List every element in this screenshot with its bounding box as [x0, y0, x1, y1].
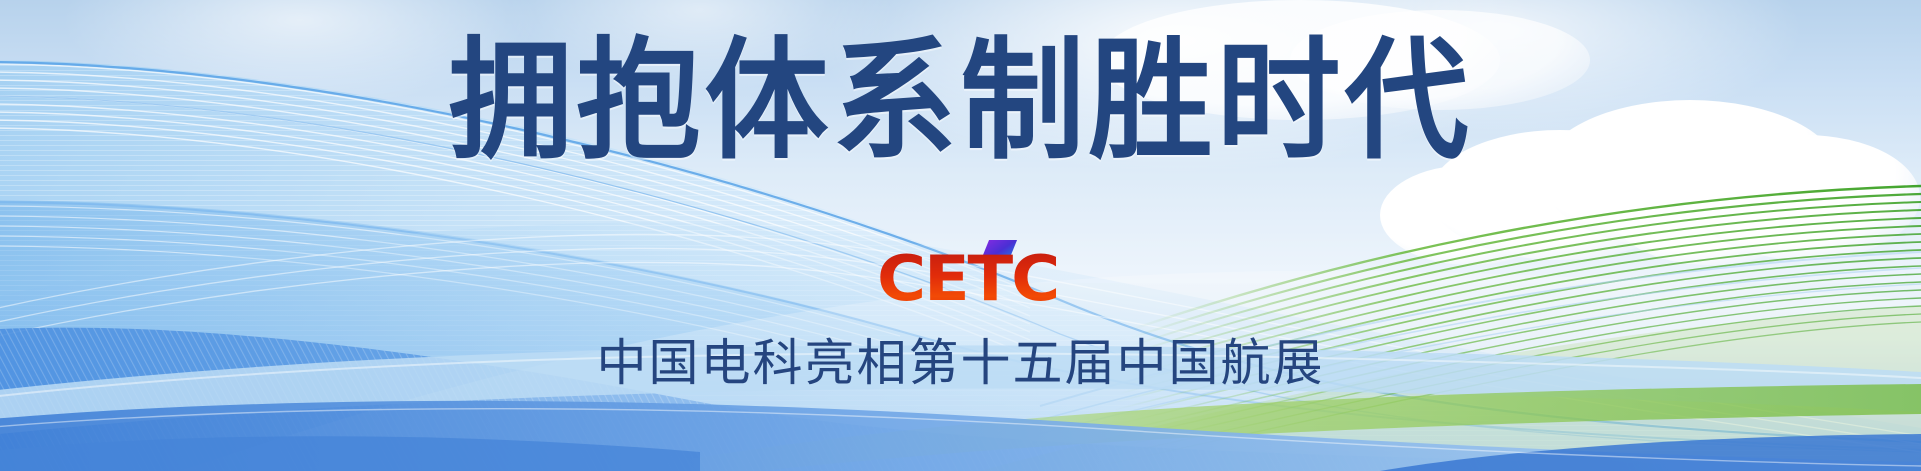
page-title: 拥抱体系制胜时代 [0, 36, 1921, 167]
logo-wordmark: CETC [877, 248, 1058, 310]
page-subtitle: 中国电科亮相第十五届中国航展 [0, 336, 1921, 391]
logo-inner: CETC [877, 244, 1045, 310]
banner-content: 拥抱体系制胜时代 CETC 中国电科亮相第十五届中国航展 [0, 0, 1921, 471]
cetc-logo: CETC [0, 244, 1921, 310]
cetc-airshow-banner: 拥抱体系制胜时代 CETC 中国电科亮相第十五届中国航展 [0, 0, 1921, 471]
